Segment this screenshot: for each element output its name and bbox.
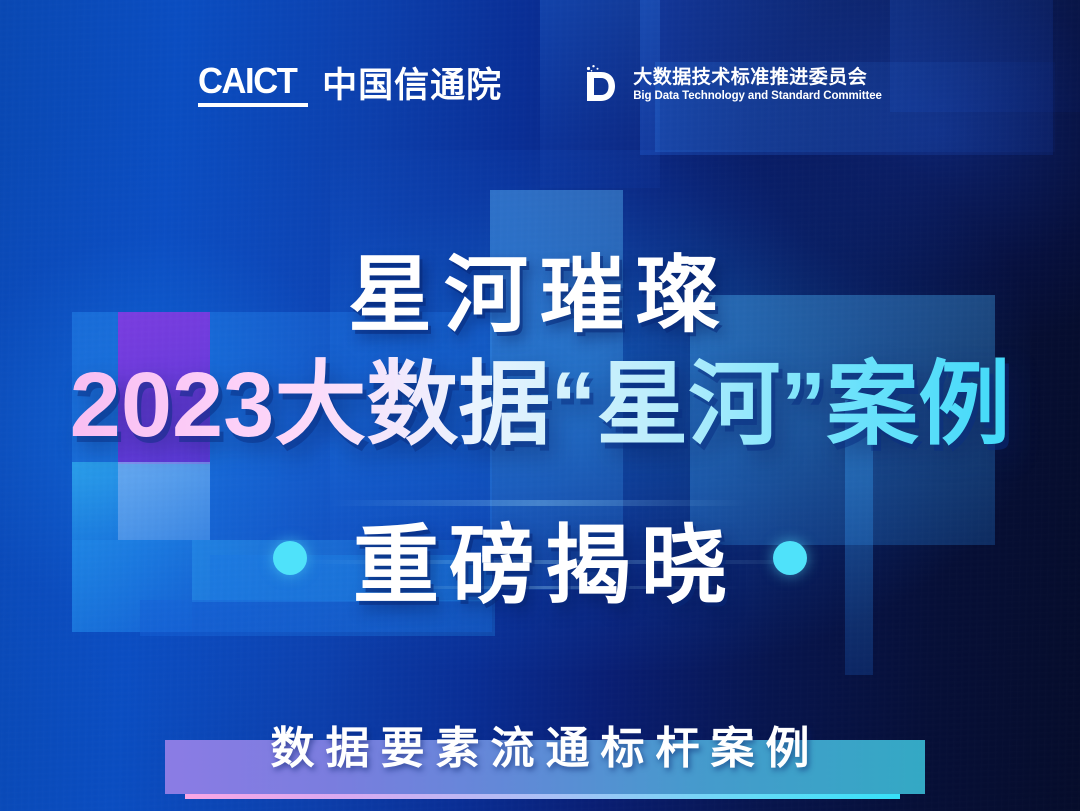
bdtsc-logo: 大数据技术标准推进委员会 Big Data Technology and Sta…	[575, 62, 882, 108]
caict-wordmark: CAICT	[198, 63, 308, 107]
bottom-banner-text: 数据要素流通标杆案例	[0, 712, 1080, 776]
caict-acronym: CAICT	[198, 63, 296, 99]
header-logos: CAICT 中国信通院 大数据技术标准推进委员会 Big Data Techno	[0, 62, 1080, 108]
title-line-3: 重磅揭晓	[343, 495, 737, 620]
caict-logo: CAICT 中国信通院	[198, 63, 502, 107]
bdtsc-name-cn: 大数据技术标准推进委员会	[633, 68, 882, 88]
bdtsc-d-icon	[575, 62, 621, 108]
decorative-dot-right	[773, 541, 807, 575]
bdtsc-name-en: Big Data Technology and Standard Committ…	[633, 90, 882, 102]
title-line-3-row: 重磅揭晓	[0, 495, 1080, 620]
decorative-dot-left	[273, 541, 307, 575]
title-line-2: 2023大数据“星河”案例	[0, 330, 1080, 463]
caict-underline	[198, 103, 308, 107]
bdtsc-text: 大数据技术标准推进委员会 Big Data Technology and Sta…	[633, 68, 882, 102]
caict-name-cn: 中国信通院	[322, 68, 502, 103]
poster-root: CAICT 中国信通院 大数据技术标准推进委员会 Big Data Techno	[0, 0, 1080, 811]
bottom-banner-accent-line	[185, 794, 900, 799]
